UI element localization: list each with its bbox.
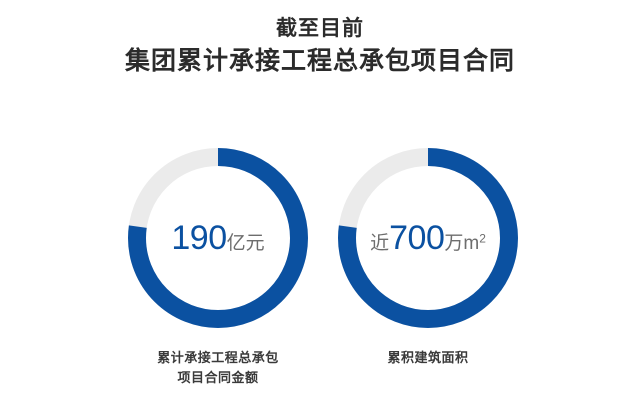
captions-row: 累计承接工程总承包 项目合同金额 累积建筑面积 xyxy=(0,348,640,408)
caption-building-area: 累积建筑面积 xyxy=(313,348,543,368)
title-line-1: 截至目前 xyxy=(0,14,640,44)
caption-1-line-2: 项目合同金额 xyxy=(103,368,333,388)
caption-contract-amount: 累计承接工程总承包 项目合同金额 xyxy=(103,348,333,388)
donut-svg-1 xyxy=(128,148,308,328)
page-title: 截至目前 集团累计承接工程总承包项目合同 xyxy=(0,14,640,78)
donut-svg-2 xyxy=(338,148,518,328)
caption-2-line-1: 累积建筑面积 xyxy=(313,348,543,368)
donut-chart-contract-amount: 190亿元 xyxy=(128,148,308,328)
title-line-2: 集团累计承接工程总承包项目合同 xyxy=(0,44,640,78)
infographic-root: 截至目前 集团累计承接工程总承包项目合同 190亿元 xyxy=(0,0,640,416)
donut-charts-row: 190亿元 近700万m2 xyxy=(0,148,640,328)
donut-chart-building-area: 近700万m2 xyxy=(338,148,518,328)
caption-1-line-1: 累计承接工程总承包 xyxy=(103,348,333,368)
